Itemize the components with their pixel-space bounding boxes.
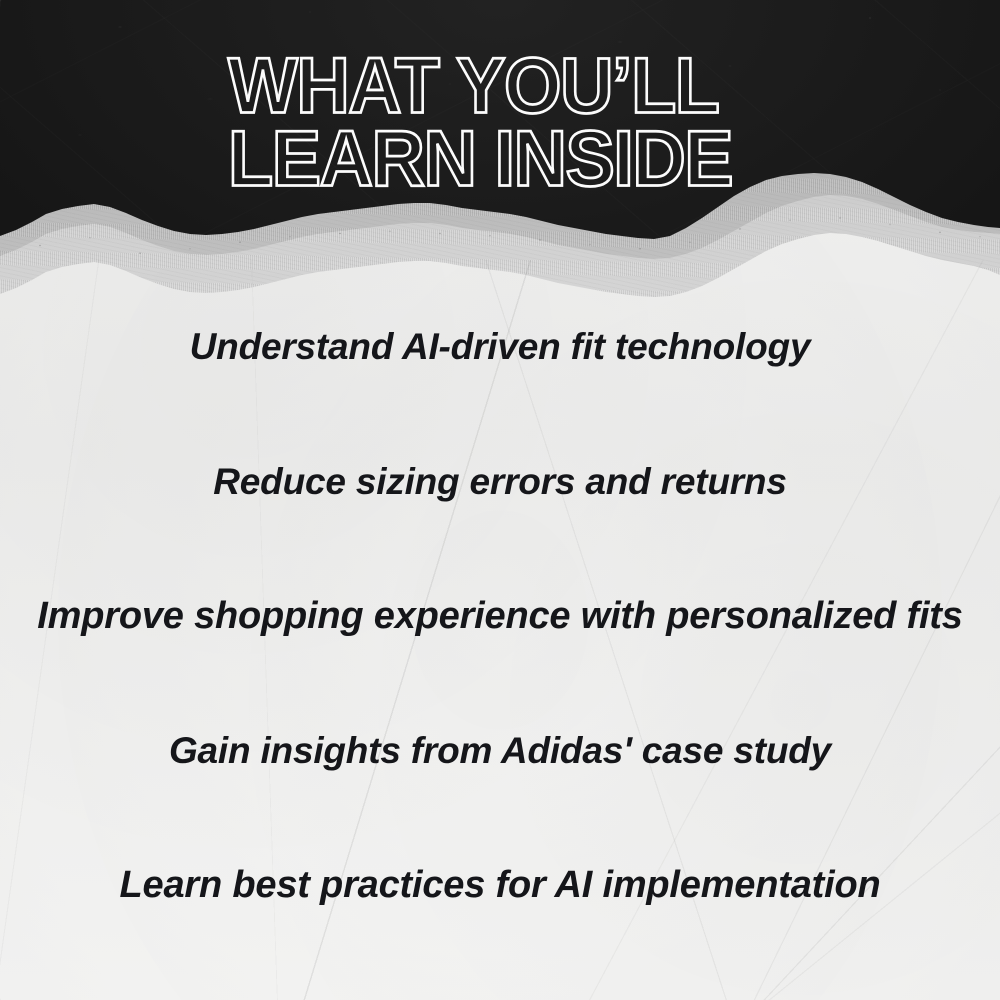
list-item: Understand AI-driven fit technology xyxy=(0,328,1000,365)
list-item: Improve shopping experience with persona… xyxy=(0,597,1000,635)
list-item: Gain insights from Adidas' case study xyxy=(0,732,1000,769)
list-item: Reduce sizing errors and returns xyxy=(0,463,1000,500)
benefits-list: Understand AI-driven fit technology Redu… xyxy=(0,0,1000,1000)
list-item: Learn best practices for AI implementati… xyxy=(0,866,1000,904)
slide-canvas: WHAT YOU’LL LEARN INSIDE Understand AI-d… xyxy=(0,0,1000,1000)
